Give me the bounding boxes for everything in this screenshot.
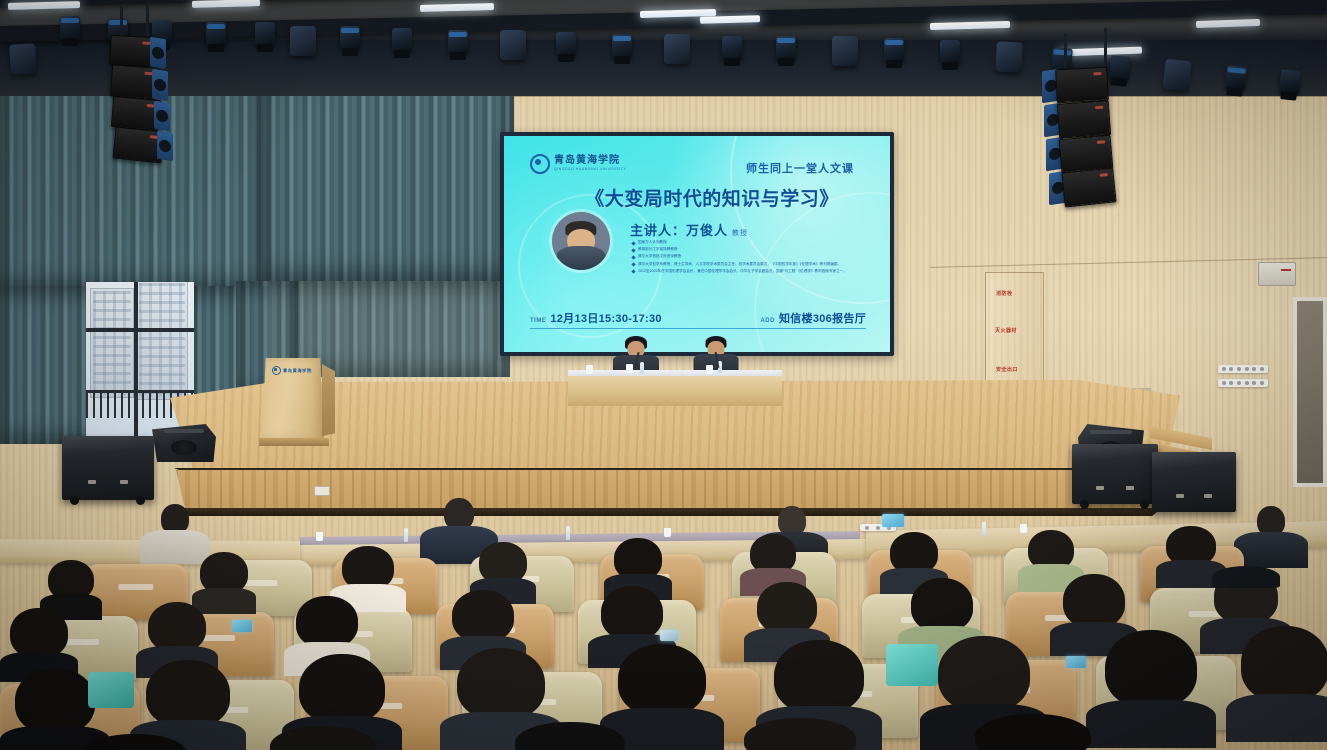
sign-exit: 安全出口 [996, 366, 1018, 373]
stage-light-yoke-2 [290, 26, 316, 56]
exterior-window [86, 282, 194, 450]
stage-light-par-12 [776, 36, 796, 60]
person-head [270, 726, 376, 750]
subwoofer-left [62, 436, 154, 500]
person-head [457, 648, 545, 720]
audience-person [1226, 626, 1327, 736]
time-label: TIME [530, 318, 546, 324]
exterior-building-right [136, 282, 188, 400]
audience-person-front [248, 726, 398, 750]
person-head [975, 714, 1091, 750]
person-head [774, 640, 864, 714]
stage-light-par-17 [1225, 65, 1247, 91]
curtain-left-lower [0, 286, 96, 444]
slide-bullet-list: 国家万人计划教授 教育部长江学者特聘教授 清华大学首批文科资深教授 清华大学哲学… [632, 240, 847, 276]
stage-light-par-7 [392, 28, 412, 52]
university-name-cn: 青岛黄海学院 [554, 156, 626, 166]
line-array-right-rigging-2 [1104, 28, 1107, 68]
person-head [757, 582, 817, 634]
slide-speaker-name: 主讲人：万俊人教授 [630, 220, 748, 239]
audience-phone-2[interactable] [232, 620, 252, 632]
portrait-body [557, 246, 606, 270]
floor-monitor-left [152, 424, 216, 462]
stage-light-par-1 [60, 16, 80, 40]
slide-university-logo: 青岛黄海学院 QINGDAO HUANGHAI UNIVERSITY [530, 154, 626, 174]
exterior-building-left [90, 288, 134, 398]
projection-screen[interactable]: 青岛黄海学院 QINGDAO HUANGHAI UNIVERSITY 师生同上一… [504, 136, 890, 352]
person-head [1063, 574, 1125, 628]
bullet-dot-icon [631, 255, 635, 259]
lecture-hall-photo: 消防栓 灭火器材 安全出口 [0, 0, 1327, 750]
slide-footer: TIME 12月13日15:30-17:30 ADD 知信楼306报告厅 [530, 310, 866, 329]
line-array-left-side-2 [152, 69, 168, 102]
line-array-left [110, 32, 180, 192]
stage-light-par-14 [940, 40, 960, 64]
stage-light-yoke-1 [9, 43, 37, 74]
stage-light-par-13 [884, 38, 904, 62]
fire-alarm-panel [1258, 262, 1296, 286]
person-shoulders [1226, 694, 1327, 742]
slide-address-group: ADD 知信楼306报告厅 [760, 310, 866, 326]
bullet-text: 清华大学哲学系教授、博士生导师，人文学院学术委员会主任、校学术委员会委员，《中国… [638, 262, 841, 267]
line-array-left-side-3 [154, 101, 170, 132]
audience-person [192, 552, 256, 608]
audience-person-front [60, 734, 210, 750]
list-item: 清华大学哲学系教授、博士生导师，人文学院学术委员会主任、校学术委员会委员，《中国… [632, 262, 847, 267]
stage-light-par-8 [448, 30, 468, 54]
audience-cup-3 [664, 528, 671, 537]
subwoofer-right-1 [1072, 444, 1158, 504]
person-head [10, 608, 68, 658]
baseball-cap [1212, 566, 1280, 588]
audience-phone-1[interactable] [882, 514, 904, 527]
stage-face-outlet [314, 486, 330, 496]
wall-outlet-strip-upper [1218, 365, 1268, 373]
list-item: 清华大学首批文科资深教授 [632, 254, 847, 259]
head-table-front [568, 376, 782, 406]
bullet-text: 清华大学首批文科资深教授 [638, 254, 681, 259]
stage-light-par-10 [612, 34, 632, 58]
bullet-dot-icon [631, 270, 635, 274]
table-bottle-1 [640, 362, 644, 374]
person-head [618, 644, 706, 716]
person-head [911, 578, 973, 632]
bullet-dot-icon [631, 262, 635, 266]
bullet-text: 国家万人计划教授 [638, 240, 667, 245]
table-cup-1 [586, 365, 593, 374]
slide-kicker: 师生同上一堂人文课 [746, 160, 854, 176]
university-logo-mark [530, 154, 550, 174]
person-head [601, 586, 663, 640]
person-head [83, 734, 187, 750]
side-doorway[interactable] [1293, 297, 1327, 487]
stage-light-par-5 [255, 22, 275, 46]
speaker-honorific: 教授 [732, 230, 748, 237]
audience-person-front [490, 722, 650, 750]
audience-bottle-3 [566, 526, 570, 540]
person-head [148, 602, 206, 652]
person-shoulders [1234, 532, 1308, 568]
wall-outlet-strip-lower [1218, 379, 1268, 387]
audience-cup-2 [316, 532, 323, 541]
line-array-right-rigging-1 [1064, 34, 1067, 68]
podium-base [259, 438, 329, 446]
stage-light-yoke-6 [995, 41, 1023, 72]
list-item: 2012至2022年任中国伦理学会会长，兼任中国伦理学学会会长、中华孔子学会副会… [632, 269, 847, 274]
person-head [296, 596, 358, 648]
head-table [568, 370, 782, 400]
stage-light-par-9 [556, 32, 576, 56]
audience-person-faculty-4 [1234, 506, 1308, 566]
audience-phone-4[interactable] [660, 630, 678, 641]
line-array-right [1042, 62, 1122, 242]
audience-person [40, 560, 102, 614]
stage-light-yoke-5 [832, 36, 858, 66]
audience-bottle-4 [982, 522, 986, 536]
audience-area [0, 498, 1327, 750]
person-head [938, 636, 1030, 712]
stage-light-yoke-4 [664, 34, 690, 64]
person-head [515, 722, 625, 750]
podium-side-panel [322, 364, 335, 436]
line-array-left-rigging-2 [146, 2, 149, 38]
person-head [146, 660, 230, 728]
address-label: ADD [760, 318, 775, 324]
list-item: 国家万人计划教授 [632, 240, 847, 245]
line-array-left-side-1 [150, 37, 166, 70]
person-head [15, 668, 95, 734]
time-value: 12月13日15:30-17:30 [550, 310, 662, 326]
audience-phone-3[interactable] [1066, 656, 1086, 668]
table-cup-2 [626, 364, 633, 373]
window-rail-top [86, 390, 194, 393]
line-array-right-box-4 [1061, 167, 1116, 207]
podium-logo-text: 青岛黄海学院 [283, 368, 312, 374]
stage-light-par-6 [340, 26, 360, 50]
line-array-right-box-1 [1055, 67, 1109, 104]
line-array-left-rigging-1 [120, 6, 123, 38]
slide-time-group: TIME 12月13日15:30-17:30 [530, 310, 662, 326]
audience-person-front [950, 714, 1116, 748]
audience-person-front [720, 718, 880, 750]
stage-light-par-18 [1279, 69, 1301, 95]
speaker-portrait [552, 212, 610, 270]
backpack-teal-2 [88, 672, 134, 708]
bullet-dot-icon [631, 248, 635, 252]
podium[interactable]: 青岛黄海学院 [262, 358, 324, 440]
bullet-text: 教育部长江学者特聘教授 [638, 247, 678, 252]
person-head [452, 590, 514, 642]
audience-bottle-2 [404, 528, 408, 542]
speaker-label: 主讲人：万俊人 [630, 223, 728, 238]
stage-light-par-11 [722, 36, 742, 60]
list-item: 教育部长江学者特聘教授 [632, 247, 847, 252]
sign-extinguisher: 灭火器材 [995, 327, 1017, 334]
stage-light-yoke-3 [500, 30, 526, 60]
window-mullion-vertical [134, 282, 138, 450]
address-value: 知信楼306报告厅 [779, 310, 866, 326]
bullet-dot-icon [631, 241, 635, 245]
person-head [1105, 630, 1197, 708]
window-mullion-horizontal [86, 328, 194, 332]
stage-light-yoke-7 [1163, 59, 1192, 92]
bullet-text: 2012至2022年任中国伦理学会会长，兼任中国伦理学学会会长、中华孔子学会副会… [638, 269, 847, 274]
table-cup-3 [706, 365, 713, 374]
person-head [744, 718, 856, 750]
podium-logo-mark [272, 366, 281, 375]
line-array-right-box-2 [1057, 100, 1111, 139]
backpack-teal [886, 644, 938, 686]
line-array-left-side-4 [157, 131, 173, 162]
podium-logo: 青岛黄海学院 [272, 366, 312, 375]
sign-fire-hydrant: 消防栓 [996, 290, 1013, 297]
university-name-en: QINGDAO HUANGHAI UNIVERSITY [554, 168, 626, 171]
stage-light-par-4 [206, 22, 226, 46]
person-head [1241, 626, 1327, 702]
person-head [299, 654, 385, 724]
slide-title: 《大变局时代的知识与学习》 [542, 184, 882, 211]
